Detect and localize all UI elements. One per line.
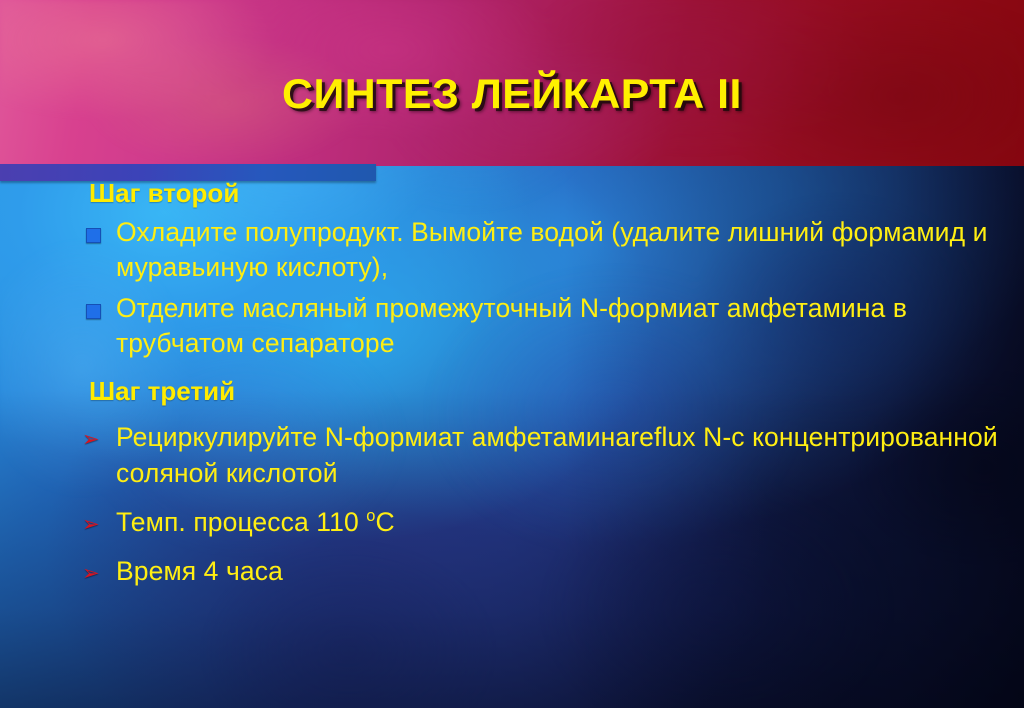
list-item: ➢ Темп. процесса 110 oC	[74, 505, 998, 540]
presentation-slide: СИНТЕЗ ЛЕЙКАРТА II Шаг второй Охладите п…	[0, 0, 1024, 708]
arrow-bullet-icon: ➢	[82, 514, 104, 534]
list-item: Отделите масляный промежуточный N-формиа…	[74, 291, 998, 361]
square-bullet-icon	[86, 228, 101, 243]
slide-body: Шаг второй Охладите полупродукт. Вымойте…	[0, 166, 1024, 708]
bullet-list-step-three: ➢ Рециркулируйте N-формиат амфетаминaref…	[74, 420, 998, 589]
list-item-text: Охладите полупродукт. Вымойте водой (уда…	[116, 217, 988, 282]
list-item-text: Рециркулируйте N-формиат амфетаминareflu…	[116, 422, 998, 487]
section-heading-step-three: Шаг третий	[89, 376, 998, 407]
temp-unit: C	[376, 507, 395, 537]
list-item-text: Отделите масляный промежуточный N-формиа…	[116, 293, 907, 358]
list-item-text: Время 4 часа	[116, 556, 283, 586]
list-item: ➢ Время 4 часа	[74, 554, 998, 589]
list-item: ➢ Рециркулируйте N-формиат амфетаминaref…	[74, 420, 998, 490]
square-bullet-icon	[86, 304, 101, 319]
list-item-text: Темп. процесса 110 oC	[116, 507, 395, 537]
slide-title: СИНТЕЗ ЛЕЙКАРТА II	[0, 73, 1024, 115]
list-item: Охладите полупродукт. Вымойте водой (уда…	[74, 215, 998, 285]
temp-label: Темп. процесса 110	[116, 507, 366, 537]
degree-superscript: o	[366, 507, 375, 525]
section-heading-step-two: Шаг второй	[89, 178, 998, 209]
arrow-bullet-icon: ➢	[82, 429, 104, 449]
slide-header-banner: СИНТЕЗ ЛЕЙКАРТА II	[0, 0, 1024, 166]
bullet-list-step-two: Охладите полупродукт. Вымойте водой (уда…	[74, 215, 998, 362]
arrow-bullet-icon: ➢	[82, 563, 104, 583]
